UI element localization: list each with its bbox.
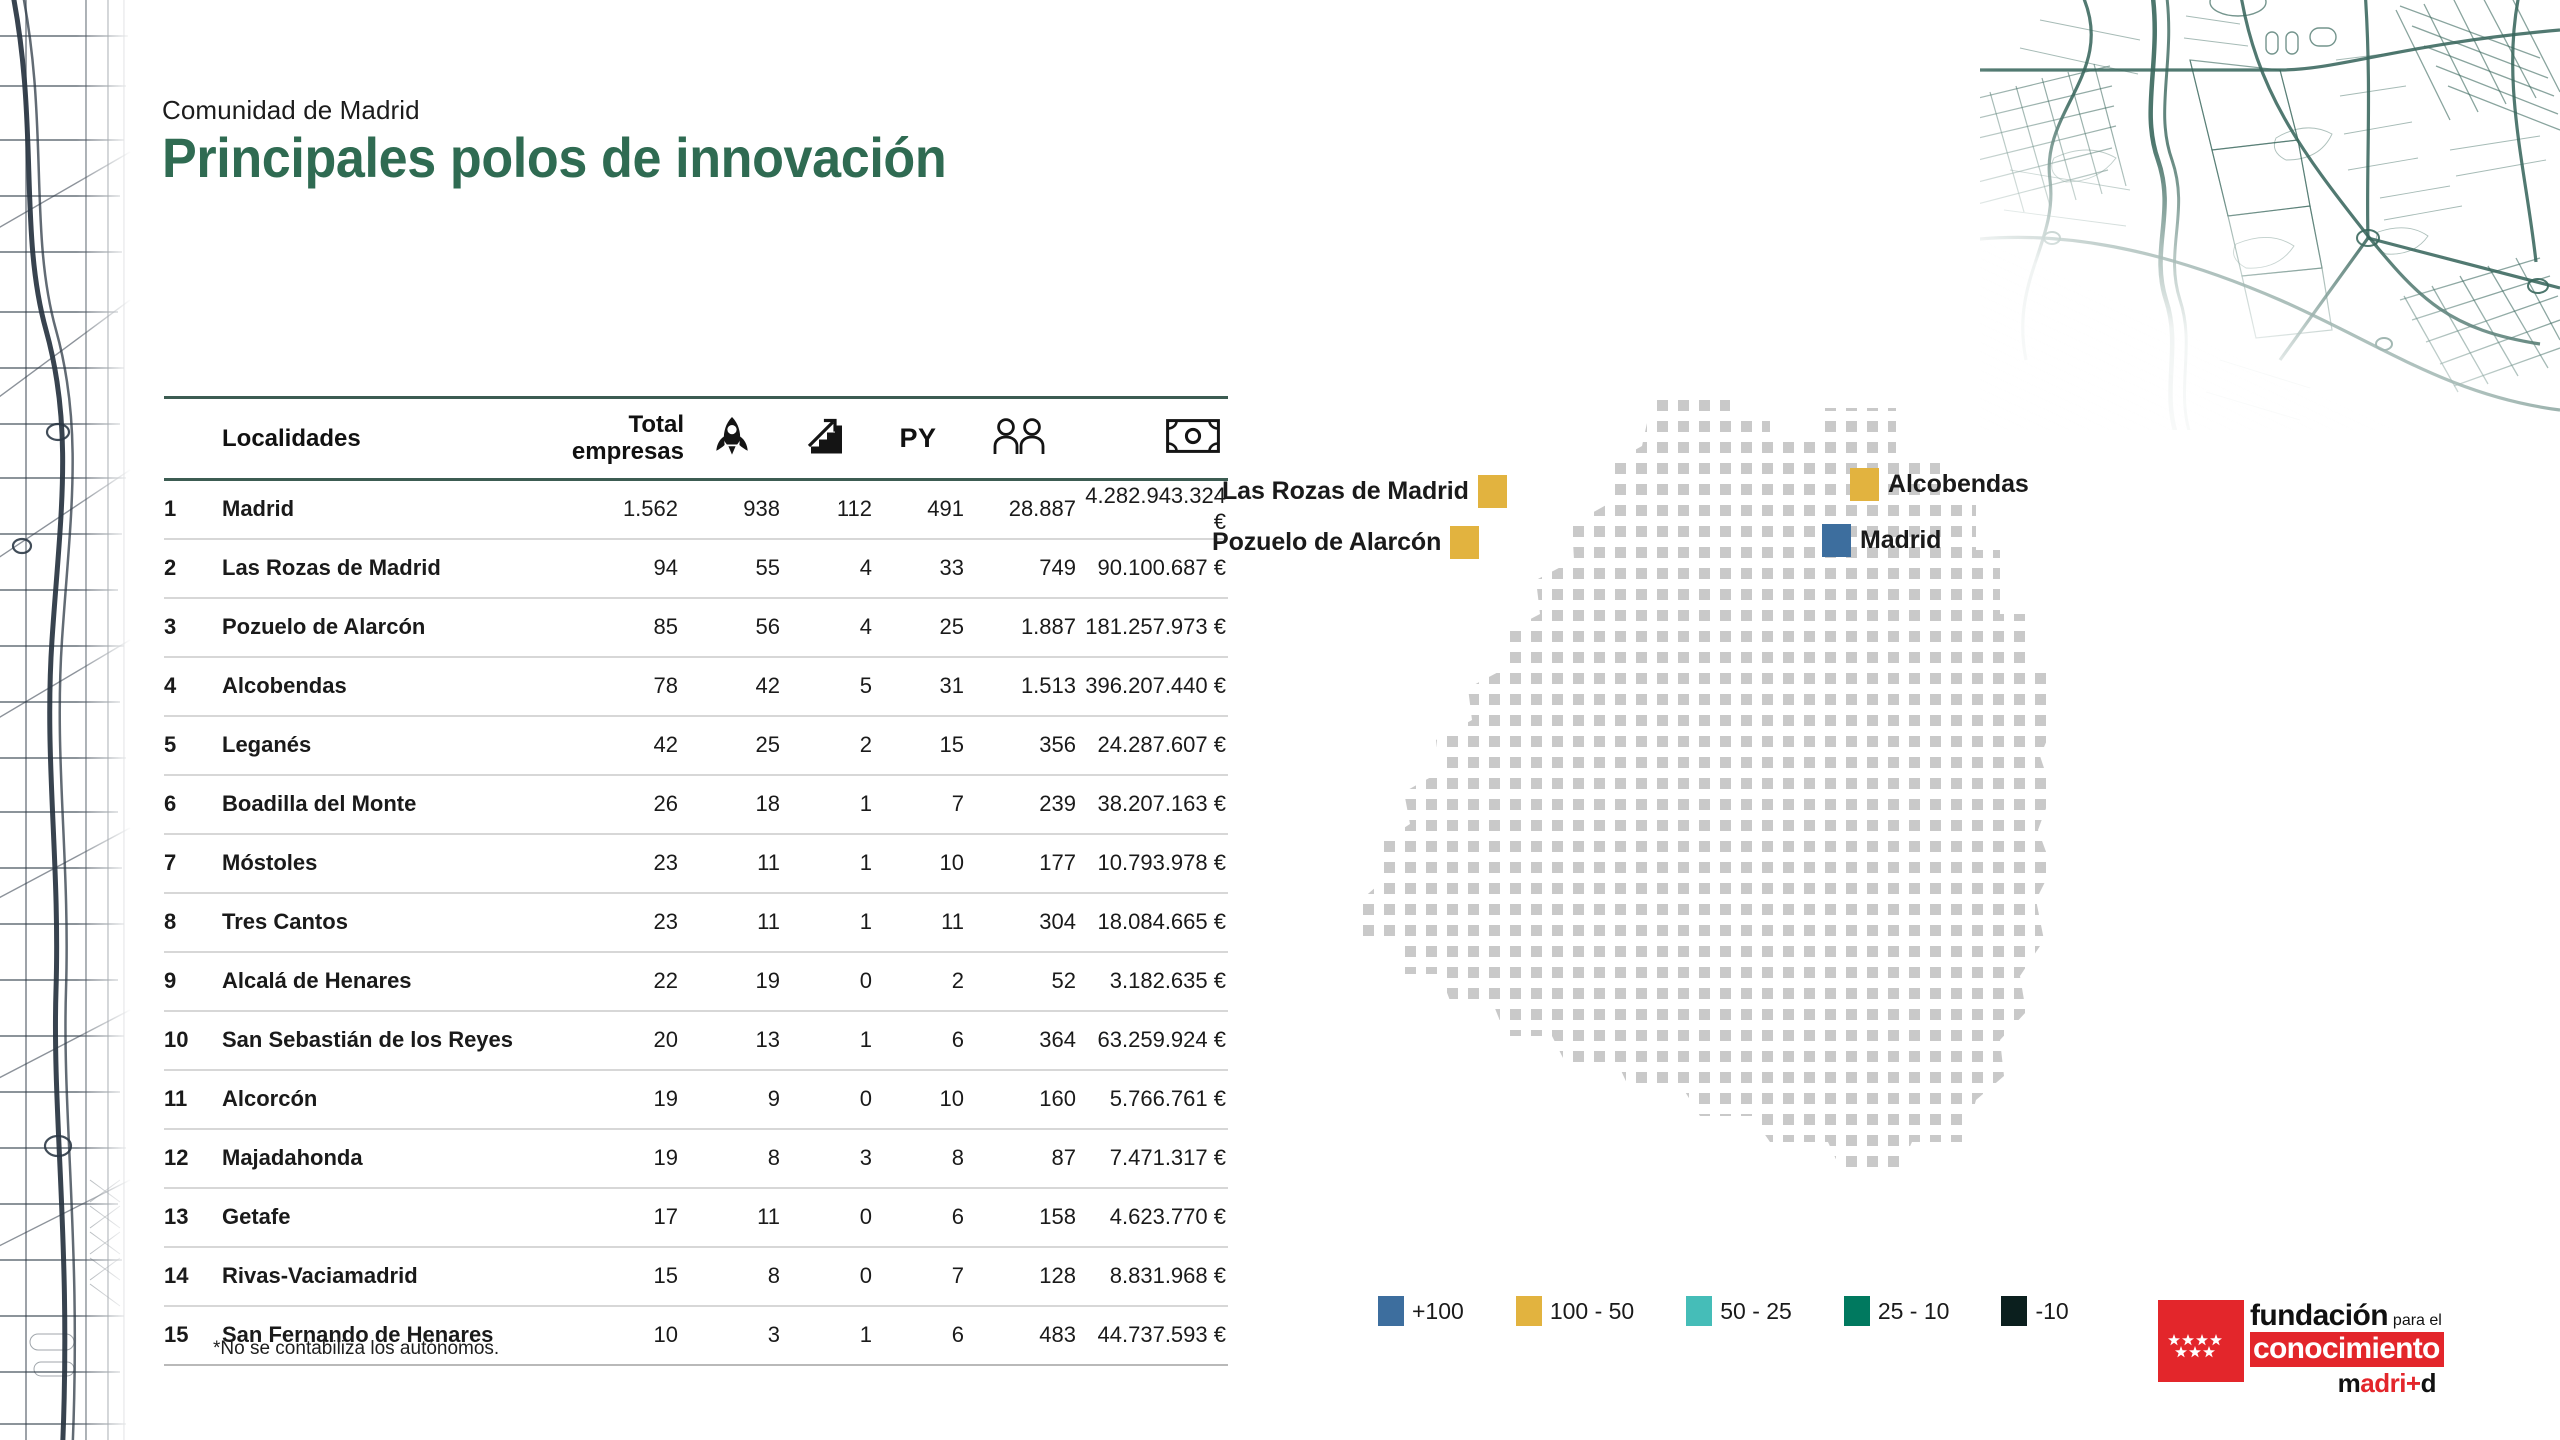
cell-facturacion: 8.831.968 € [1076, 1247, 1228, 1306]
table-row: 12Majadahonda19838877.471.317 € [164, 1129, 1228, 1188]
map-legend: +100100 - 5050 - 2525 - 10-10 [1378, 1296, 2069, 1326]
cell-py: 6 [872, 1306, 964, 1365]
cell-total-empresas: 22 [564, 952, 684, 1011]
table-row: 5Leganés422521535624.287.607 € [164, 716, 1228, 775]
map-label-las-rozas-de-madrid: Las Rozas de Madrid [1222, 477, 1469, 506]
cell-empleados: 356 [964, 716, 1076, 775]
table-row: 14Rivas-Vaciamadrid158071288.831.968 € [164, 1247, 1228, 1306]
cell-facturacion: 4.623.770 € [1076, 1188, 1228, 1247]
logo-text-fundacion: fundación [2250, 1299, 2388, 1332]
logo-text-adri: adri [2360, 1368, 2406, 1398]
cell-startups: 8 [684, 1247, 780, 1306]
logo-text-para-el: para el [2393, 1312, 2442, 1329]
legend-item[interactable]: 50 - 25 [1686, 1296, 1792, 1326]
table-footnote: *No se contabiliza los autónomos. [213, 1338, 499, 1360]
map-swatch-alcobendas [1850, 468, 1879, 501]
cell-empleados: 1.513 [964, 657, 1076, 716]
street-map-left-decoration [0, 0, 132, 1440]
map-label-pozuelo-de-alarcon: Pozuelo de Alarcón [1212, 528, 1441, 557]
cell-startups: 55 [684, 539, 780, 598]
legend-swatch [1378, 1296, 1404, 1326]
legend-item[interactable]: 100 - 50 [1516, 1296, 1634, 1326]
table-row: 4Alcobendas78425311.513396.207.440 € [164, 657, 1228, 716]
legend-label: 50 - 25 [1720, 1298, 1792, 1325]
cell-facturacion: 18.084.665 € [1076, 893, 1228, 952]
cell-rank: 7 [164, 834, 222, 893]
legend-swatch [1844, 1296, 1870, 1326]
cell-rank: 9 [164, 952, 222, 1011]
cell-scaleups: 4 [780, 598, 872, 657]
table-row: 8Tres Cantos231111130418.084.665 € [164, 893, 1228, 952]
legend-swatch [1686, 1296, 1712, 1326]
table-row: 9Alcalá de Henares221902523.182.635 € [164, 952, 1228, 1011]
rocket-icon [715, 416, 749, 456]
col-header-startups [684, 398, 780, 480]
cell-locality-name: Madrid [222, 480, 564, 539]
cell-facturacion: 4.282.943.324 € [1076, 480, 1228, 539]
table-row: 2Las Rozas de Madrid945543374990.100.687… [164, 539, 1228, 598]
table-row: 3Pozuelo de Alarcón85564251.887181.257.9… [164, 598, 1228, 657]
cell-total-empresas: 42 [564, 716, 684, 775]
cell-empleados: 177 [964, 834, 1076, 893]
cell-scaleups: 1 [780, 834, 872, 893]
table-header: Localidades Total empresas [164, 398, 1228, 480]
col-header-py: PY [872, 398, 964, 480]
cell-rank: 3 [164, 598, 222, 657]
cell-startups: 11 [684, 1188, 780, 1247]
cell-locality-name: Tres Cantos [222, 893, 564, 952]
cell-empleados: 239 [964, 775, 1076, 834]
supertitle: Comunidad de Madrid [162, 96, 1262, 125]
page-title: Principales polos de innovación [162, 127, 1185, 190]
cell-total-empresas: 26 [564, 775, 684, 834]
cell-facturacion: 90.100.687 € [1076, 539, 1228, 598]
cell-rank: 12 [164, 1129, 222, 1188]
cell-facturacion: 396.207.440 € [1076, 657, 1228, 716]
cell-total-empresas: 20 [564, 1011, 684, 1070]
cell-py: 33 [872, 539, 964, 598]
cell-py: 8 [872, 1129, 964, 1188]
col-header-total-line2: empresas [564, 439, 684, 466]
legend-item[interactable]: +100 [1378, 1296, 1464, 1326]
table-row: 1Madrid1.56293811249128.8874.282.943.324… [164, 480, 1228, 539]
cell-locality-name: Leganés [222, 716, 564, 775]
madrid-seven-stars-icon [2158, 1300, 2244, 1382]
cell-empleados: 749 [964, 539, 1076, 598]
cell-total-empresas: 1.562 [564, 480, 684, 539]
cell-py: 10 [872, 1070, 964, 1129]
rankings-table-container: Localidades Total empresas [164, 396, 1228, 1366]
logo-line-madrimasd: madri+d [2250, 1369, 2436, 1398]
table-body: 1Madrid1.56293811249128.8874.282.943.324… [164, 480, 1228, 1365]
growth-chart-icon [807, 416, 845, 456]
cell-rank: 1 [164, 480, 222, 539]
table-header-row: Localidades Total empresas [164, 398, 1228, 480]
map-swatch-las-rozas-de-madrid [1478, 475, 1507, 508]
cell-locality-name: Alcalá de Henares [222, 952, 564, 1011]
cell-scaleups: 1 [780, 775, 872, 834]
cell-startups: 56 [684, 598, 780, 657]
cell-scaleups: 1 [780, 1306, 872, 1365]
cell-total-empresas: 85 [564, 598, 684, 657]
cell-rank: 4 [164, 657, 222, 716]
cell-rank: 2 [164, 539, 222, 598]
cell-py: 2 [872, 952, 964, 1011]
cell-scaleups: 0 [780, 1247, 872, 1306]
cell-empleados: 1.887 [964, 598, 1076, 657]
cell-locality-name: Alcobendas [222, 657, 564, 716]
cell-locality-name: Pozuelo de Alarcón [222, 598, 564, 657]
cell-facturacion: 7.471.317 € [1076, 1129, 1228, 1188]
cell-py: 7 [872, 1247, 964, 1306]
cell-facturacion: 44.737.593 € [1076, 1306, 1228, 1365]
cell-rank: 6 [164, 775, 222, 834]
logo-plus-icon: + [2406, 1368, 2421, 1398]
table-row: 7Móstoles231111017710.793.978 € [164, 834, 1228, 893]
cell-py: 11 [872, 893, 964, 952]
cell-empleados: 128 [964, 1247, 1076, 1306]
map-marker-madrid[interactable]: Madrid [1822, 524, 1941, 557]
cell-total-empresas: 78 [564, 657, 684, 716]
cell-startups: 8 [684, 1129, 780, 1188]
cell-facturacion: 38.207.163 € [1076, 775, 1228, 834]
logo-text-m: m [2338, 1368, 2361, 1398]
cell-startups: 42 [684, 657, 780, 716]
cell-startups: 11 [684, 893, 780, 952]
map-marker-pozuelo-de-alarcon[interactable]: Pozuelo de Alarcón [1212, 526, 1479, 559]
map-label-alcobendas: Alcobendas [1888, 470, 2029, 499]
cell-py: 15 [872, 716, 964, 775]
cell-startups: 25 [684, 716, 780, 775]
cell-locality-name: Alcorcón [222, 1070, 564, 1129]
col-header-empleados [964, 398, 1076, 480]
cell-scaleups: 0 [780, 952, 872, 1011]
cell-empleados: 52 [964, 952, 1076, 1011]
logo-line-fundacion: fundaciónpara el [2250, 1298, 2436, 1331]
col-header-rank [164, 398, 222, 480]
banknote-icon [1166, 419, 1220, 453]
cell-empleados: 160 [964, 1070, 1076, 1129]
cell-startups: 13 [684, 1011, 780, 1070]
legend-swatch [1516, 1296, 1542, 1326]
cell-total-empresas: 10 [564, 1306, 684, 1365]
street-map-topright-decoration [1980, 0, 2560, 430]
map-swatch-pozuelo-de-alarcon [1450, 526, 1479, 559]
cell-empleados: 364 [964, 1011, 1076, 1070]
page-header: Comunidad de Madrid Principales polos de… [162, 96, 1262, 189]
cell-locality-name: Boadilla del Monte [222, 775, 564, 834]
table-row: 10San Sebastián de los Reyes20131636463.… [164, 1011, 1228, 1070]
cell-total-empresas: 17 [564, 1188, 684, 1247]
cell-rank: 13 [164, 1188, 222, 1247]
cell-facturacion: 24.287.607 € [1076, 716, 1228, 775]
cell-locality-name: Móstoles [222, 834, 564, 893]
legend-label: 25 - 10 [1878, 1298, 1950, 1325]
col-header-facturacion [1076, 398, 1228, 480]
table-row: 6Boadilla del Monte26181723938.207.163 € [164, 775, 1228, 834]
legend-item[interactable]: 25 - 10 [1844, 1296, 1950, 1326]
col-header-total-empresas: Total empresas [564, 398, 684, 480]
map-label-madrid: Madrid [1860, 526, 1941, 555]
cell-rank: 11 [164, 1070, 222, 1129]
legend-label: 100 - 50 [1550, 1298, 1634, 1325]
logo-text-conocimiento: conocimiento [2250, 1332, 2444, 1367]
cell-rank: 10 [164, 1011, 222, 1070]
cell-empleados: 158 [964, 1188, 1076, 1247]
legend-label: +100 [1412, 1298, 1464, 1325]
cell-py: 31 [872, 657, 964, 716]
col-header-localidades: Localidades [222, 398, 564, 480]
cell-empleados: 28.887 [964, 480, 1076, 539]
cell-scaleups: 2 [780, 716, 872, 775]
cell-rank: 5 [164, 716, 222, 775]
cell-empleados: 87 [964, 1129, 1076, 1188]
cell-py: 10 [872, 834, 964, 893]
cell-locality-name: Rivas-Vaciamadrid [222, 1247, 564, 1306]
col-header-total-line1: Total [564, 412, 684, 439]
cell-facturacion: 10.793.978 € [1076, 834, 1228, 893]
infographic-page: Comunidad de Madrid Principales polos de… [0, 0, 2560, 1440]
cell-py: 6 [872, 1011, 964, 1070]
map-swatch-madrid [1822, 524, 1851, 557]
cell-scaleups: 4 [780, 539, 872, 598]
col-header-scaleups [780, 398, 872, 480]
logo-wordmark: fundaciónpara el conocimiento madri+d [2250, 1298, 2436, 1394]
cell-py: 7 [872, 775, 964, 834]
cell-startups: 11 [684, 834, 780, 893]
cell-py: 6 [872, 1188, 964, 1247]
cell-total-empresas: 19 [564, 1070, 684, 1129]
cell-scaleups: 0 [780, 1070, 872, 1129]
table-row: 13Getafe1711061584.623.770 € [164, 1188, 1228, 1247]
cell-facturacion: 3.182.635 € [1076, 952, 1228, 1011]
cell-py: 25 [872, 598, 964, 657]
legend-swatch [2001, 1296, 2027, 1326]
two-people-icon [991, 416, 1049, 456]
cell-facturacion: 63.259.924 € [1076, 1011, 1228, 1070]
legend-label: -10 [2035, 1298, 2068, 1325]
table-row: 11Alcorcón1990101605.766.761 € [164, 1070, 1228, 1129]
cell-startups: 19 [684, 952, 780, 1011]
cell-scaleups: 5 [780, 657, 872, 716]
logo-text-d: d [2421, 1368, 2436, 1398]
cell-total-empresas: 94 [564, 539, 684, 598]
map-marker-las-rozas-de-madrid[interactable]: Las Rozas de Madrid [1222, 475, 1507, 508]
cell-scaleups: 112 [780, 480, 872, 539]
cell-locality-name: Getafe [222, 1188, 564, 1247]
cell-startups: 9 [684, 1070, 780, 1129]
fundacion-madrimasd-logo[interactable]: fundaciónpara el conocimiento madri+d [2158, 1298, 2436, 1394]
madrid-dot-map: Las Rozas de Madrid Alcobendas Pozuelo d… [1300, 400, 2100, 1270]
cell-facturacion: 181.257.973 € [1076, 598, 1228, 657]
cell-empleados: 483 [964, 1306, 1076, 1365]
cell-startups: 938 [684, 480, 780, 539]
cell-startups: 3 [684, 1306, 780, 1365]
cell-locality-name: Majadahonda [222, 1129, 564, 1188]
cell-facturacion: 5.766.761 € [1076, 1070, 1228, 1129]
cell-rank: 8 [164, 893, 222, 952]
cell-py: 491 [872, 480, 964, 539]
cell-locality-name: Las Rozas de Madrid [222, 539, 564, 598]
cell-scaleups: 0 [780, 1188, 872, 1247]
rankings-table: Localidades Total empresas [164, 396, 1228, 1366]
cell-total-empresas: 15 [564, 1247, 684, 1306]
cell-scaleups: 1 [780, 1011, 872, 1070]
cell-scaleups: 3 [780, 1129, 872, 1188]
cell-total-empresas: 23 [564, 834, 684, 893]
cell-rank: 14 [164, 1247, 222, 1306]
legend-item[interactable]: -10 [2001, 1296, 2068, 1326]
cell-scaleups: 1 [780, 893, 872, 952]
cell-empleados: 304 [964, 893, 1076, 952]
cell-total-empresas: 23 [564, 893, 684, 952]
cell-total-empresas: 19 [564, 1129, 684, 1188]
cell-startups: 18 [684, 775, 780, 834]
cell-locality-name: San Sebastián de los Reyes [222, 1011, 564, 1070]
map-marker-alcobendas[interactable]: Alcobendas [1850, 468, 2029, 501]
